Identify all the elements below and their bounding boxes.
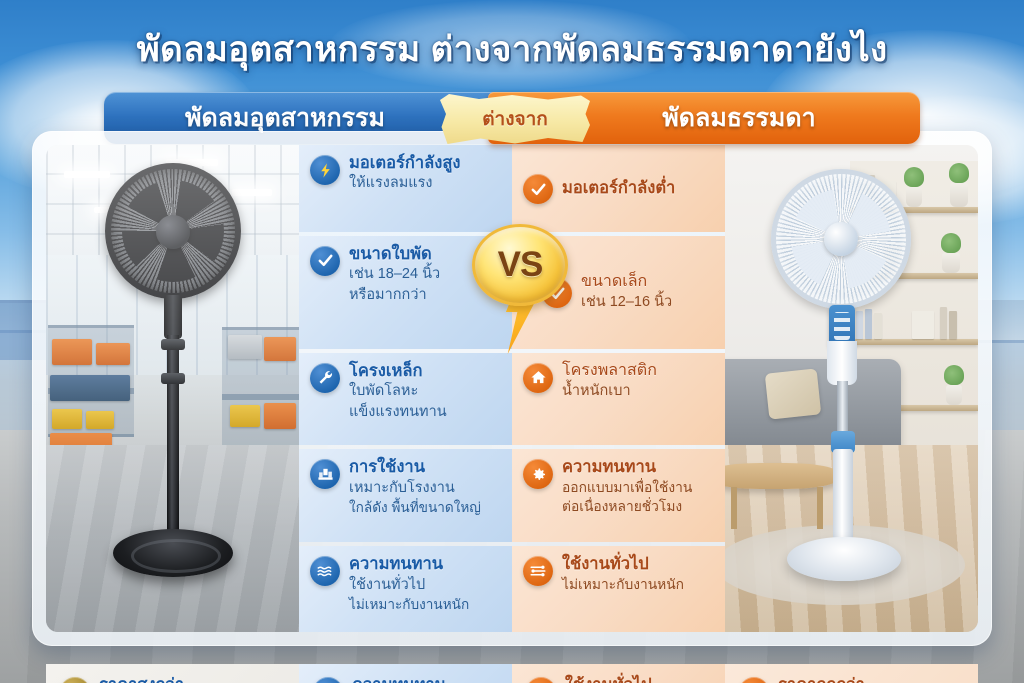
page-title: พัดลมอุตสาหกรรม ต่างจากพัดลมธรรมดาดายังไ… — [0, 22, 1024, 77]
sliders-icon — [523, 556, 553, 586]
feature-sub-line: ให้แรงลมแรง — [349, 174, 502, 193]
feature-title: ความทนทาน — [349, 555, 502, 574]
check-mark-icon — [542, 278, 572, 308]
waves-icon — [313, 677, 343, 683]
check-mark-icon — [310, 246, 340, 276]
household-feature-column: มอเตอร์กำลังต่ำ ขนาดเล็ก เช่น 12–16 นิ้ว — [512, 145, 725, 632]
price-text: ราคาสูงกว่า แต่เหมาะกับพื้นที่ ขนาดใหญ่ — [99, 676, 287, 683]
feature-title: ความทนทาน — [352, 676, 500, 683]
ribbon-versus-tag: ต่างจาก — [440, 94, 590, 144]
feature-text: มอเตอร์กำลังต่ำ — [562, 179, 715, 198]
price-cell-industrial-durability[interactable]: ความทนทาน ใช้งานทั่วไป ไม่เหมาะกับงานหนั… — [299, 664, 512, 683]
fan-body — [827, 341, 857, 385]
feature-title: ขนาดเล็ก — [581, 273, 715, 292]
feature-row-motor[interactable]: มอเตอร์กำลังต่ำ — [512, 145, 725, 232]
sliders-icon — [526, 677, 556, 683]
feature-row-steel-frame[interactable]: โครงเหล็ก ใบพัดโลหะ แข็งแรงทนทาน — [299, 353, 512, 446]
feature-text: ใช้งานทั่วไป ไม่เหมาะกับงานหนัก — [565, 676, 713, 683]
home-icon — [523, 363, 553, 393]
feature-row-blade-size[interactable]: ขนาดใบพัด เช่น 18–24 นิ้ว หรือมากกว่า — [299, 236, 512, 349]
crate — [52, 409, 82, 429]
feature-title: โครงพลาสติก — [562, 362, 715, 381]
feature-sub-line: ใช้งานทั่วไป — [349, 576, 502, 595]
feature-sub-line: แข็งแรงทนทาน — [349, 403, 502, 422]
book — [940, 307, 947, 339]
price-text: ราคาถูกกว่า — [778, 676, 966, 683]
book — [949, 311, 957, 339]
check-mark-icon — [523, 174, 553, 204]
fan-collar — [161, 339, 185, 350]
feature-text: โครงเหล็ก ใบพัดโลหะ แข็งแรงทนทาน — [349, 362, 502, 422]
feature-sub-line: ไม่เหมาะกับงานหนัก — [349, 596, 502, 614]
feature-text: ความทนทาน ออกแบบมาเพื่อใช้งาน ต่อเนื่องห… — [562, 458, 715, 516]
feature-title: ความทนทาน — [562, 458, 715, 477]
fan-base — [787, 537, 901, 581]
household-fan-photo — [725, 145, 978, 632]
industrial-fan-photo — [46, 145, 299, 632]
potted-plant — [946, 385, 962, 405]
feature-title: ขนาดใบพัด — [349, 245, 502, 264]
feature-row-general-use[interactable]: ใช้งานทั่วไป ไม่เหมาะกับงานหนัก — [512, 546, 725, 632]
feature-sub-line: ใบพัดโลหะ — [349, 382, 502, 401]
feature-text: ใช้งานทั่วไป ไม่เหมาะกับงานหนัก — [562, 555, 715, 594]
fan-neck — [164, 295, 182, 339]
fan-hub — [156, 215, 190, 249]
price-cell-household[interactable]: $ ราคาถูกกว่า — [725, 664, 978, 683]
crate — [264, 403, 296, 429]
feature-text: ขนาดเล็ก เช่น 12–16 นิ้ว — [581, 273, 715, 312]
feature-text: มอเตอร์กำลังสูง ให้แรงลมแรง — [349, 154, 502, 194]
feature-title: การใช้งาน — [349, 458, 502, 477]
feature-sub-line: ใกล้ดัง พื้นที่ขนาดใหญ่ — [349, 499, 502, 517]
comparison-grid: มอเตอร์กำลังสูง ให้แรงลมแรง ขนาดใบพัด เช… — [299, 145, 725, 632]
price-title: ราคาถูกกว่า — [778, 676, 966, 683]
price-cell-industrial[interactable]: $ ราคาสูงกว่า แต่เหมาะกับพื้นที่ ขนาดใหญ… — [46, 664, 299, 683]
feature-sub-line: ต่อเนื่องหลายชั่วโมง — [562, 498, 715, 516]
industrial-feature-column: มอเตอร์กำลังสูง ให้แรงลมแรง ขนาดใบพัด เช… — [299, 145, 512, 632]
crate — [264, 337, 296, 361]
crate — [52, 339, 92, 365]
waves-icon — [310, 556, 340, 586]
wrench-icon — [310, 363, 340, 393]
feature-text: ขนาดใบพัด เช่น 18–24 นิ้ว หรือมากกว่า — [349, 245, 502, 305]
feature-title: ใช้งานทั่วไป — [565, 676, 713, 683]
feature-text: การใช้งาน เหมาะกับโรงงาน ใกล้ดัง พื้นที่… — [349, 458, 502, 517]
comparison-card: มอเตอร์กำลังสูง ให้แรงลมแรง ขนาดใบพัด เช… — [32, 131, 992, 646]
feature-title: มอเตอร์กำลังต่ำ — [562, 179, 715, 198]
feature-sub-line: เช่น 18–24 นิ้ว — [349, 265, 502, 284]
household-fan-illustration — [771, 169, 921, 619]
fan-hub — [824, 222, 858, 256]
feature-sub-line: ออกแบบมาเพื่อใช้งาน — [562, 479, 715, 497]
feature-sub-line: ไม่เหมาะกับงานหนัก — [562, 576, 715, 594]
feature-text: ความทนทาน ใช้งานทั่วไป ไม่เหมาะกับงานหนั… — [349, 555, 502, 614]
fan-rod — [837, 381, 848, 435]
feature-row-size[interactable]: ขนาดเล็ก เช่น 12–16 นิ้ว — [512, 236, 725, 349]
industrial-fan-illustration — [98, 163, 248, 613]
feature-sub-line: หรือมากกว่า — [349, 286, 502, 305]
feature-title: มอเตอร์กำลังสูง — [349, 154, 502, 173]
feature-row-plastic-frame[interactable]: โครงพลาสติก น้ำหนักเบา — [512, 353, 725, 446]
feature-sub-line: น้ำหนักเบา — [562, 382, 715, 401]
fan-base — [113, 529, 233, 577]
price-cell-household-general-use[interactable]: ใช้งานทั่วไป ไม่เหมาะกับงานหนัก — [512, 664, 725, 683]
feature-sub-line: เหมาะกับโรงงาน — [349, 479, 502, 498]
price-row: $ ราคาสูงกว่า แต่เหมาะกับพื้นที่ ขนาดใหญ… — [46, 664, 978, 683]
potted-plant — [942, 253, 960, 273]
feature-row-durability[interactable]: ความทนทาน ออกแบบมาเพื่อใช้งาน ต่อเนื่องห… — [512, 449, 725, 542]
dollar-coin-icon: $ — [739, 677, 769, 683]
feature-row-motor[interactable]: มอเตอร์กำลังสูง ให้แรงลมแรง — [299, 145, 512, 232]
feature-title: โครงเหล็ก — [349, 362, 502, 381]
feature-sub-line: เช่น 12–16 นิ้ว — [581, 293, 715, 312]
comparison-card-inner: มอเตอร์กำลังสูง ให้แรงลมแรง ขนาดใบพัด เช… — [46, 145, 978, 632]
dollar-coin-icon: $ — [60, 677, 90, 683]
fan-pole — [167, 335, 179, 535]
gear-icon — [523, 459, 553, 489]
lightning-bolt-icon — [310, 155, 340, 185]
table-leg — [731, 487, 737, 529]
fan-collar — [161, 373, 185, 384]
feature-title: ใช้งานทั่วไป — [562, 555, 715, 574]
feature-row-usage[interactable]: การใช้งาน เหมาะกับโรงงาน ใกล้ดัง พื้นที่… — [299, 449, 512, 542]
factory-boxes-icon — [310, 459, 340, 489]
infographic-stage: พัดลมอุตสาหกรรม ต่างจากพัดลมธรรมดาดายังไ… — [0, 0, 1024, 683]
potted-plant — [950, 183, 968, 207]
feature-text: โครงพลาสติก น้ำหนักเบา — [562, 362, 715, 401]
feature-text: ความทนทาน ใช้งานทั่วไป ไม่เหมาะกับงานหนั… — [352, 676, 500, 683]
feature-row-durability[interactable]: ความทนทาน ใช้งานทั่วไป ไม่เหมาะกับงานหนั… — [299, 546, 512, 632]
price-title: ราคาสูงกว่า — [99, 676, 287, 683]
fan-pole — [833, 449, 853, 551]
